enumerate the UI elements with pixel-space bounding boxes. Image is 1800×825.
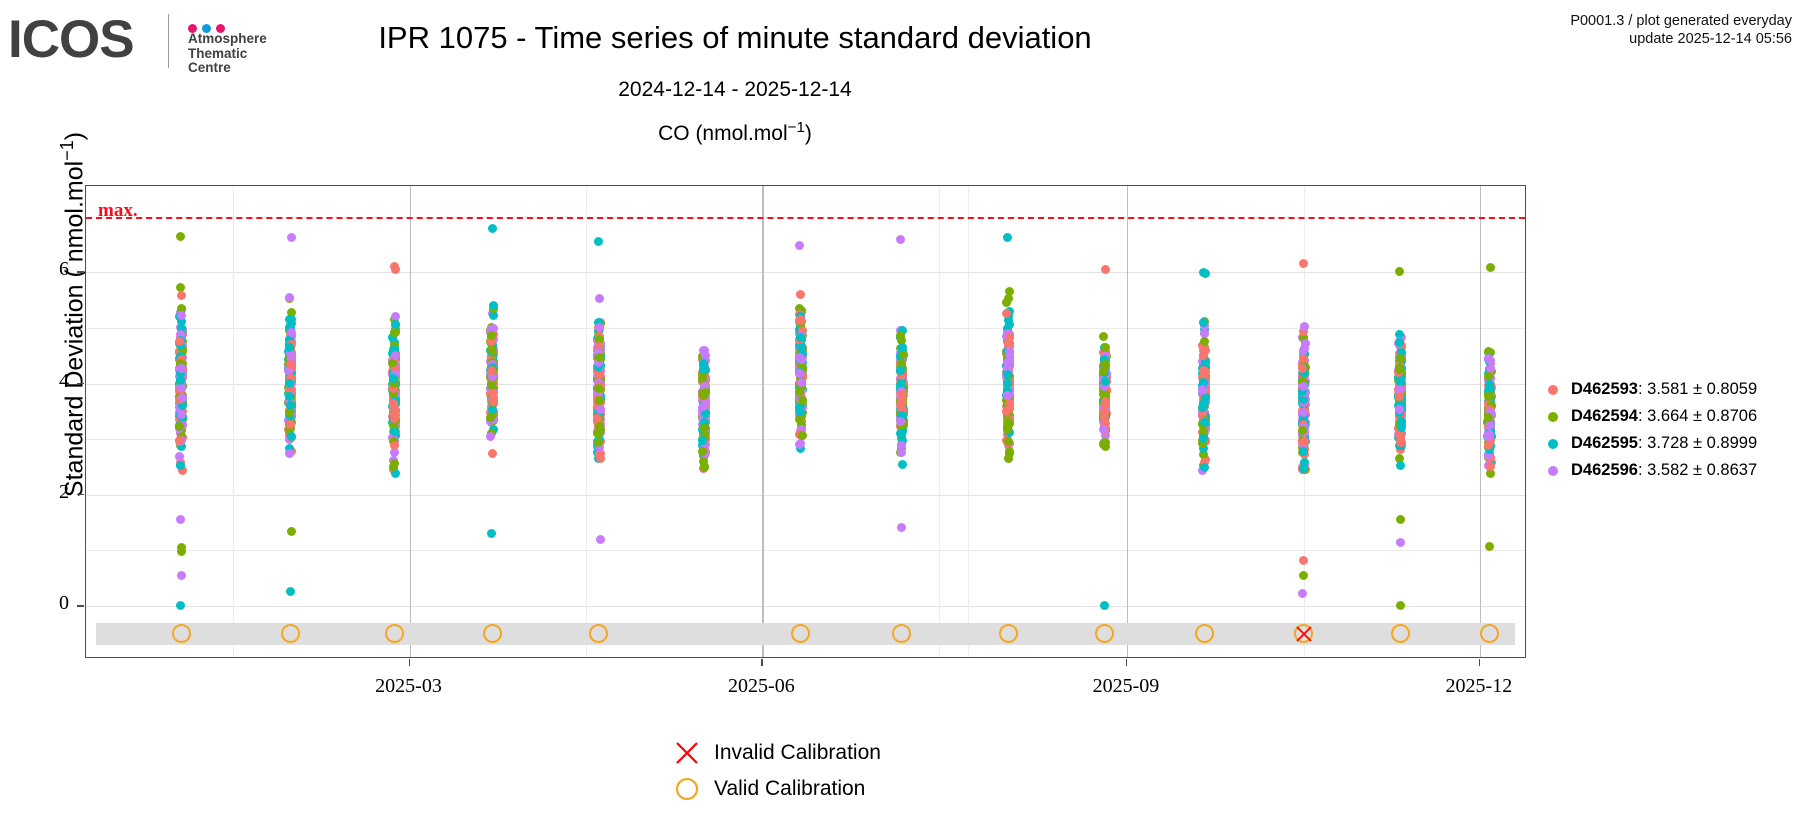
scatter-point [1484, 413, 1493, 422]
legend-label: D462593: 3.581 ± 0.8059 [1571, 380, 1757, 399]
gridline-v [1480, 186, 1481, 657]
scatter-point [595, 422, 604, 431]
scatter-point [797, 343, 806, 352]
scatter-point [287, 328, 296, 337]
y-tick-label: 0 [29, 592, 69, 615]
calibration-legend-label: Valid Calibration [714, 777, 865, 801]
scatter-point [175, 452, 184, 461]
max-threshold-label: max. [98, 200, 138, 222]
series-legend: D462593: 3.581 ± 0.8059D462594: 3.664 ± … [1548, 376, 1757, 484]
legend-swatch-icon [1548, 385, 1558, 395]
scatter-point [796, 315, 805, 324]
scatter-point-outlier [1003, 233, 1012, 242]
plot-area: Standard Deviation ( nmol.mol−1) max. 02… [0, 0, 1800, 825]
legend-swatch-icon [1548, 412, 1558, 422]
legend-label: D462594: 3.664 ± 0.8706 [1571, 407, 1757, 426]
scatter-point [1101, 400, 1110, 409]
x-tick-mark [1126, 659, 1127, 666]
invalid-calibration-x-icon [660, 740, 714, 766]
x-tick-label: 2025-12 [1409, 675, 1549, 698]
y-tick-mark [77, 271, 84, 272]
scatter-point [285, 293, 294, 302]
scatter-point [486, 413, 495, 422]
gridline-v [586, 186, 587, 657]
legend-item-D462593[interactable]: D462593: 3.581 ± 0.8059 [1548, 376, 1757, 403]
scatter-point-outlier [488, 224, 497, 233]
scatter-point [1485, 380, 1494, 389]
scatter-point [595, 294, 604, 303]
scatter-point [1003, 391, 1012, 400]
x-tick-label: 2025-06 [691, 675, 831, 698]
scatter-point-outlier [1299, 259, 1308, 268]
scatter-point [1003, 370, 1012, 379]
gridline-v [968, 186, 969, 657]
scatter-point [798, 431, 807, 440]
y-tick-label: 4 [29, 370, 69, 393]
scatter-point-outlier [286, 587, 295, 596]
scatter-point [486, 432, 495, 441]
scatter-point-outlier [287, 233, 296, 242]
legend-swatch-icon [1548, 466, 1558, 476]
scatter-point [795, 369, 804, 378]
calibration-legend: Invalid CalibrationValid Calibration [660, 735, 881, 807]
scatter-point-outlier [897, 523, 906, 532]
scatter-point [1485, 430, 1494, 439]
scatter-point [596, 454, 605, 463]
scatter-point-outlier [1486, 263, 1495, 272]
y-tick-label: 2 [29, 481, 69, 504]
scatter-point-outlier [596, 535, 605, 544]
scatter-point-outlier [1485, 542, 1494, 551]
scatter-point-outlier [1100, 601, 1109, 610]
scatter-point-outlier [177, 547, 186, 556]
gridline-h [86, 550, 1525, 551]
gridline-v [233, 186, 234, 657]
scatter-point-outlier [176, 601, 185, 610]
scatter-point [391, 351, 400, 360]
scatter-point-outlier [487, 529, 496, 538]
scatter-point-outlier [795, 241, 804, 250]
scatter-point-outlier [1395, 267, 1404, 276]
scatter-point [1200, 329, 1209, 338]
scatter-point [1299, 447, 1308, 456]
scatter-point [1101, 377, 1110, 386]
scatter-point-outlier [1396, 538, 1405, 547]
scatter-point-outlier [391, 265, 400, 274]
scatter-point [898, 390, 907, 399]
scatter-point [178, 393, 187, 402]
scatter-point-outlier [896, 235, 905, 244]
gridline-h [86, 495, 1525, 496]
scatter-point [286, 401, 295, 410]
x-tick-mark [1479, 659, 1480, 666]
legend-item-D462596[interactable]: D462596: 3.582 ± 0.8637 [1548, 457, 1757, 484]
legend-label: D462595: 3.728 ± 0.8999 [1571, 434, 1757, 453]
scatter-point [795, 387, 804, 396]
gridline-v [762, 186, 763, 657]
scatter-point [897, 448, 906, 457]
gridline-h [86, 272, 1525, 273]
scatter-point [487, 366, 496, 375]
scatter-point-outlier [287, 527, 296, 536]
scatter-point-outlier [1299, 571, 1308, 580]
gridline-v [1127, 186, 1128, 657]
y-tick-mark [77, 383, 84, 384]
scatter-point [488, 449, 497, 458]
scatter-point-outlier [1201, 269, 1210, 278]
scatter-point [1299, 408, 1308, 417]
gridline-v [410, 186, 411, 657]
scatter-point [390, 459, 399, 468]
scatter-point-outlier [594, 237, 603, 246]
scatter-point [595, 396, 604, 405]
scatter-point [797, 378, 806, 387]
scatter-point [699, 457, 708, 466]
scatter-point [1004, 437, 1013, 446]
scatter-point [1101, 361, 1110, 370]
scatter-point-outlier [1396, 515, 1405, 524]
legend-swatch-icon [1548, 439, 1558, 449]
scatter-point [285, 449, 294, 458]
scatter-point [898, 343, 907, 352]
calibration-legend-item: Valid Calibration [660, 771, 881, 807]
scatter-point-outlier [176, 232, 185, 241]
scatter-point [1484, 354, 1493, 363]
scatter-point-outlier [1299, 556, 1308, 565]
calibration-legend-item: Invalid Calibration [660, 735, 881, 771]
scatter-point [390, 427, 399, 436]
y-tick-mark [77, 494, 84, 495]
scatter-point-outlier [177, 571, 186, 580]
scatter-point [1395, 365, 1404, 374]
scatter-point [175, 422, 184, 431]
scatter-point [1484, 392, 1493, 401]
scatter-point [177, 291, 186, 300]
scatter-point [489, 397, 498, 406]
scatter-point [798, 396, 807, 405]
scatter-point [1396, 461, 1405, 470]
scatter-point [287, 315, 296, 324]
scatter-point [487, 331, 496, 340]
x-tick-mark [761, 659, 762, 666]
scatter-point [594, 384, 603, 393]
scatter-point [1005, 447, 1014, 456]
invalid-calibration-x-icon [1295, 625, 1313, 643]
scatter-point [1300, 322, 1309, 331]
scatter-point [1099, 332, 1108, 341]
scatter-point [898, 460, 907, 469]
gridline-h [86, 606, 1525, 607]
scatter-point [176, 461, 185, 470]
scatter-point [1200, 463, 1209, 472]
scatter-point [285, 392, 294, 401]
x-tick-mark [409, 659, 410, 666]
scatter-point [1199, 318, 1208, 327]
scatter-point [595, 353, 604, 362]
scatter-point [1002, 309, 1011, 318]
scatter-point [796, 290, 805, 299]
x-tick-label: 2025-09 [1056, 675, 1196, 698]
gridline-v [939, 186, 940, 657]
scatter-point [896, 366, 905, 375]
scatter-point [1486, 462, 1495, 471]
max-threshold-line [86, 217, 1525, 219]
scatter-point [286, 420, 295, 429]
calibration-legend-label: Invalid Calibration [714, 741, 881, 765]
scatter-point-outlier [1298, 589, 1307, 598]
scatter-point [285, 379, 294, 388]
legend-label: D462596: 3.582 ± 0.8637 [1571, 461, 1757, 480]
valid-calibration-circle-icon [660, 776, 714, 802]
scatter-point [896, 417, 905, 426]
scatter-point [596, 405, 605, 414]
scatter-point-outlier [176, 515, 185, 524]
scatter-point [899, 350, 908, 359]
scatter-point [595, 323, 604, 332]
scatter-point [699, 402, 708, 411]
y-tick-mark [77, 605, 84, 606]
scatter-point [1395, 392, 1404, 401]
legend-item-D462595[interactable]: D462595: 3.728 ± 0.8999 [1548, 430, 1757, 457]
chart-panel: max. [85, 185, 1526, 658]
legend-item-D462594[interactable]: D462594: 3.664 ± 0.8706 [1548, 403, 1757, 430]
scatter-point [1300, 437, 1309, 446]
scatter-point [1298, 364, 1307, 373]
scatter-point [1199, 426, 1208, 435]
scatter-point-outlier [1396, 601, 1405, 610]
y-tick-label: 6 [29, 258, 69, 281]
x-tick-label: 2025-03 [339, 675, 479, 698]
scatter-point [1201, 346, 1210, 355]
scatter-point [391, 320, 400, 329]
scatter-point [1397, 423, 1406, 432]
valid-calibration-marker [172, 624, 191, 643]
scatter-point [390, 403, 399, 412]
